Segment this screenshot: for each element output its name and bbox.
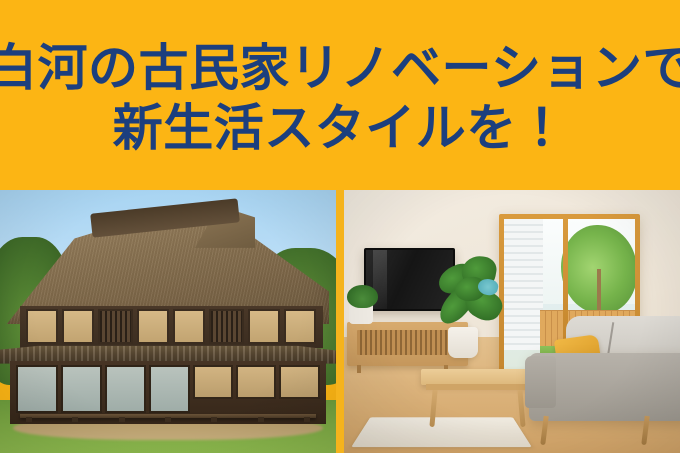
area-rug (351, 418, 532, 448)
photo-after-living-room (344, 190, 680, 453)
coffee-table-top (421, 369, 532, 385)
plaster-panel (137, 309, 169, 344)
living-room-scene (344, 190, 680, 453)
lattice-panel (98, 309, 133, 344)
stilt (26, 417, 32, 421)
plaster-panel (193, 365, 233, 399)
foundation-stilts (26, 417, 310, 421)
photo-row (0, 190, 680, 453)
stilt (165, 417, 171, 421)
stilt (211, 417, 217, 421)
headline-line-1: 白河の古民家リノベーションで (0, 43, 680, 93)
headline-band: 白河の古民家リノベーションで 新生活スタイルを！ (0, 0, 680, 190)
renovation-promo-banner: 白河の古民家リノベーションで 新生活スタイルを！ (0, 0, 680, 453)
sideboard-leg (357, 365, 361, 373)
stilt (72, 417, 78, 421)
coffee-table-apron (426, 384, 527, 390)
lower-plaster-row (193, 365, 319, 399)
sideboard-slat-front (357, 330, 459, 356)
plaster-panel (26, 309, 58, 344)
plaster-panel (173, 309, 205, 344)
headline-line-2: 新生活スタイルを！ (113, 103, 568, 153)
shoji-door-row (16, 365, 190, 413)
photo-before-kominka (0, 190, 336, 453)
plaster-panel (248, 309, 280, 344)
plaster-panel (62, 309, 94, 344)
kominka-scene (0, 190, 336, 453)
outside-siding-wall (504, 219, 543, 351)
sofa-armrest (525, 356, 555, 409)
stilt (304, 417, 310, 421)
plant-pot (448, 327, 478, 359)
lattice-panel (209, 309, 244, 344)
photo-divider (336, 190, 344, 453)
lower-floor-wall (10, 361, 326, 424)
upper-window-panels (26, 309, 316, 344)
shoji-door (105, 365, 146, 413)
plaster-panel (279, 365, 319, 399)
stilt (119, 417, 125, 421)
plaster-panel (236, 365, 276, 399)
shoji-door (61, 365, 102, 413)
stilt (258, 417, 264, 421)
plaster-panel (284, 309, 316, 344)
small-plant-leaves (347, 285, 377, 309)
shoji-door (149, 365, 190, 413)
upper-floor-wall (20, 306, 322, 348)
shoji-door (16, 365, 57, 413)
